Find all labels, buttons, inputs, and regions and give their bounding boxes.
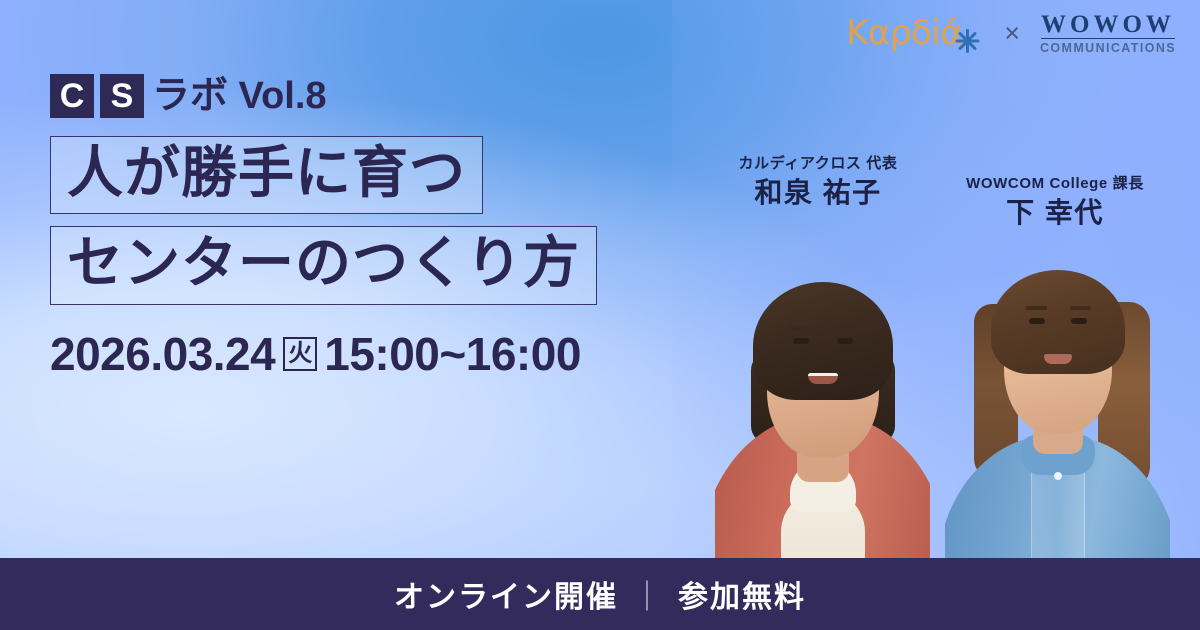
series-title-rest: ラボ Vol.8: [152, 77, 327, 115]
wowow-logo: WOWOW COMMUNICATIONS: [1040, 12, 1176, 55]
headline-line-1: 人が勝手に育つ: [67, 143, 466, 203]
footer-bar: オンライン開催 ｜ 参加無料: [0, 558, 1200, 630]
speaker-2-label: WOWCOM College 課長 下 幸代: [930, 172, 1180, 227]
speaker-1-name: 和泉 祐子: [703, 179, 933, 207]
kardia-logo: Καρδiά: [846, 16, 984, 50]
asterisk-icon: [954, 28, 980, 54]
speaker-2-role: WOWCOM College 課長: [930, 172, 1180, 193]
day-of-week-badge: 火: [283, 337, 317, 371]
webinar-banner: Καρδiά × WOWOW COMMUNICATIONS C S ラボ Vol…: [0, 0, 1200, 630]
badge-s: S: [100, 74, 144, 118]
kardia-logo-text: Καρδiά: [846, 16, 962, 50]
event-date: 2026.03.24: [50, 331, 275, 377]
wowow-logo-sub: COMMUNICATIONS: [1040, 42, 1176, 55]
logo-separator-icon: ×: [1002, 20, 1022, 47]
schedule-line: 2026.03.24 火 15:00~16:00: [50, 331, 750, 377]
footer-text: オンライン開催 ｜ 参加無料: [394, 572, 806, 616]
headline-box-2: センターのつくり方: [50, 226, 597, 304]
footer-right-label: 参加無料: [678, 572, 806, 616]
series-title: C S ラボ Vol.8: [50, 74, 750, 118]
speaker-1-label: カルディアクロス 代表 和泉 祐子: [703, 152, 933, 207]
event-time: 15:00~16:00: [324, 331, 581, 377]
speaker-1-role: カルディアクロス 代表: [703, 152, 933, 173]
headline-line-2: センターのつくり方: [67, 233, 580, 293]
content-column: C S ラボ Vol.8 人が勝手に育つ センターのつくり方 2026.03.2…: [50, 74, 750, 377]
footer-left-label: オンライン開催: [394, 572, 618, 616]
headline-box-1: 人が勝手に育つ: [50, 136, 483, 214]
footer-separator: ｜: [632, 572, 664, 616]
speaker-2-name: 下 幸代: [930, 199, 1180, 227]
wowow-logo-main: WOWOW: [1041, 12, 1175, 39]
badge-c: C: [50, 74, 94, 118]
logo-row: Καρδiά × WOWOW COMMUNICATIONS: [846, 12, 1176, 55]
